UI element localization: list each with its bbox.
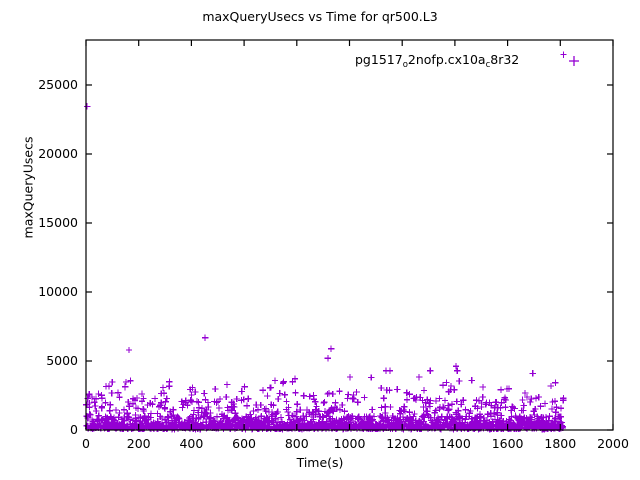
scatter-points-layer bbox=[83, 51, 567, 432]
chart-container: maxQueryUsecs vs Time for qr500.L3 maxQu… bbox=[0, 0, 640, 480]
x-tick-label: 0 bbox=[56, 436, 116, 451]
legend-marker bbox=[569, 56, 579, 66]
y-tick-label: 5000 bbox=[18, 353, 78, 368]
y-tick-label: 0 bbox=[18, 422, 78, 437]
x-tick-label: 400 bbox=[161, 436, 221, 451]
y-tick-label: 10000 bbox=[18, 284, 78, 299]
x-tick-label: 1600 bbox=[478, 436, 538, 451]
x-tick-label: 1200 bbox=[372, 436, 432, 451]
y-tick-label: 25000 bbox=[18, 77, 78, 92]
x-tick-label: 1000 bbox=[320, 436, 380, 451]
plot-canvas bbox=[0, 0, 640, 480]
x-tick-label: 2000 bbox=[583, 436, 640, 451]
x-tick-label: 1400 bbox=[425, 436, 485, 451]
x-tick-label: 1800 bbox=[530, 436, 590, 451]
x-tick-label: 200 bbox=[109, 436, 169, 451]
y-tick-label: 20000 bbox=[18, 146, 78, 161]
x-tick-label: 800 bbox=[267, 436, 327, 451]
x-tick-label: 600 bbox=[214, 436, 274, 451]
axes-layer bbox=[86, 40, 613, 430]
y-tick-label: 15000 bbox=[18, 215, 78, 230]
